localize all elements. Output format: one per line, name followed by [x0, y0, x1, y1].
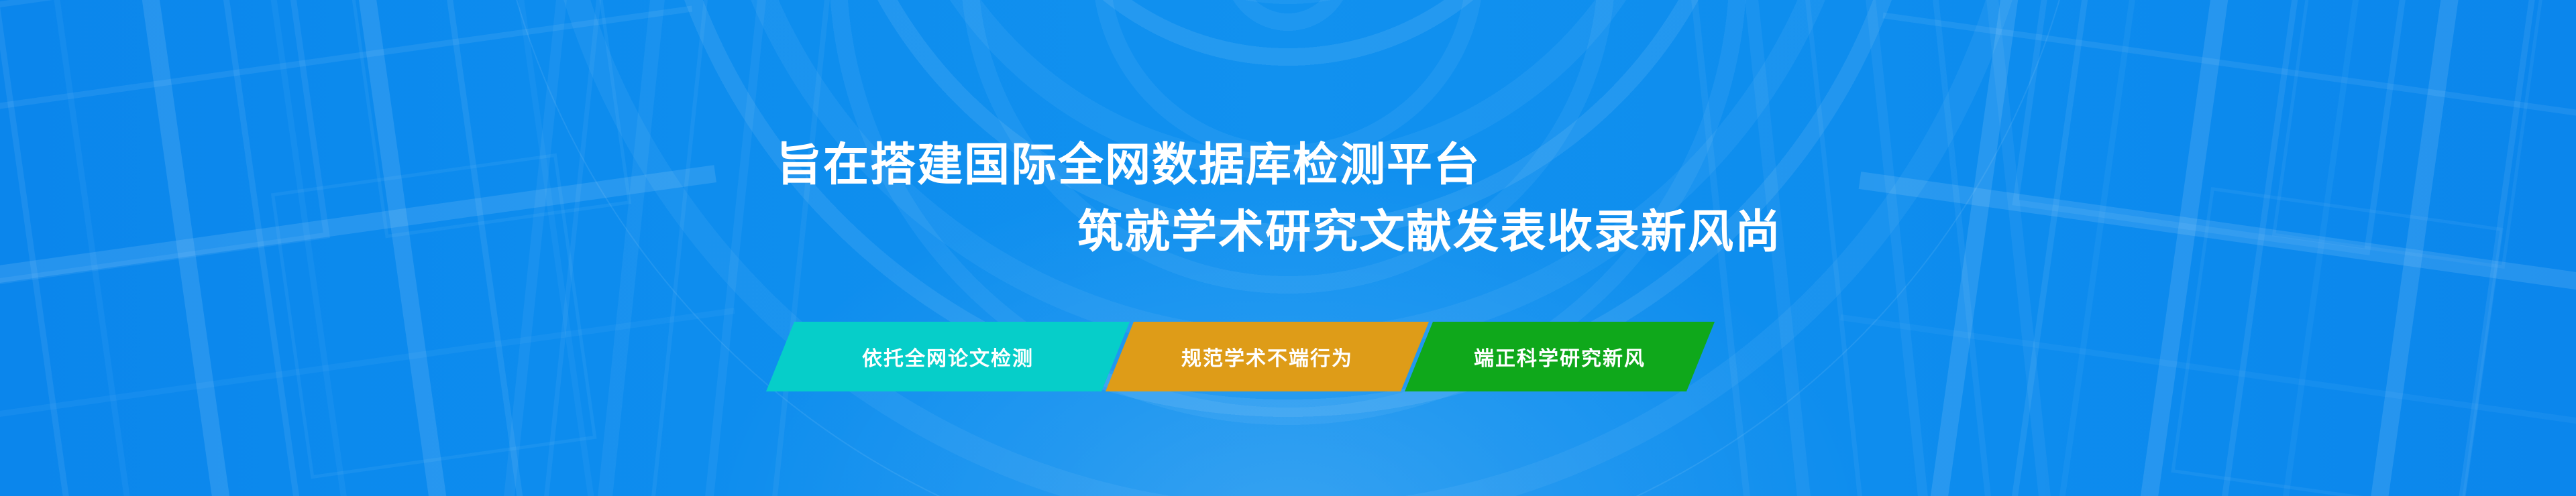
tag-academic-misconduct-label: 规范学术不端行为 — [1181, 342, 1353, 371]
tag-research-ethos-label: 端正科学研究新风 — [1474, 342, 1646, 371]
feature-tag-strip: 依托全网论文检测 规范学术不端行为 端正科学研究新风 — [780, 322, 1701, 391]
headline-block: 旨在搭建国际全网数据库检测平台 筑就学术研究文献发表收录新风尚 — [0, 131, 2576, 265]
tag-research-ethos[interactable]: 端正科学研究新风 — [1405, 322, 1715, 391]
tag-paper-detection-label: 依托全网论文检测 — [862, 342, 1034, 371]
headline-line-2: 筑就学术研究文献发表收录新风尚 — [0, 198, 2576, 265]
tag-academic-misconduct[interactable]: 规范学术不端行为 — [1106, 322, 1429, 391]
headline-line-1: 旨在搭建国际全网数据库检测平台 — [0, 131, 2576, 198]
promotional-banner: 旨在搭建国际全网数据库检测平台 筑就学术研究文献发表收录新风尚 依托全网论文检测… — [0, 0, 2576, 496]
tag-paper-detection[interactable]: 依托全网论文检测 — [766, 322, 1130, 391]
